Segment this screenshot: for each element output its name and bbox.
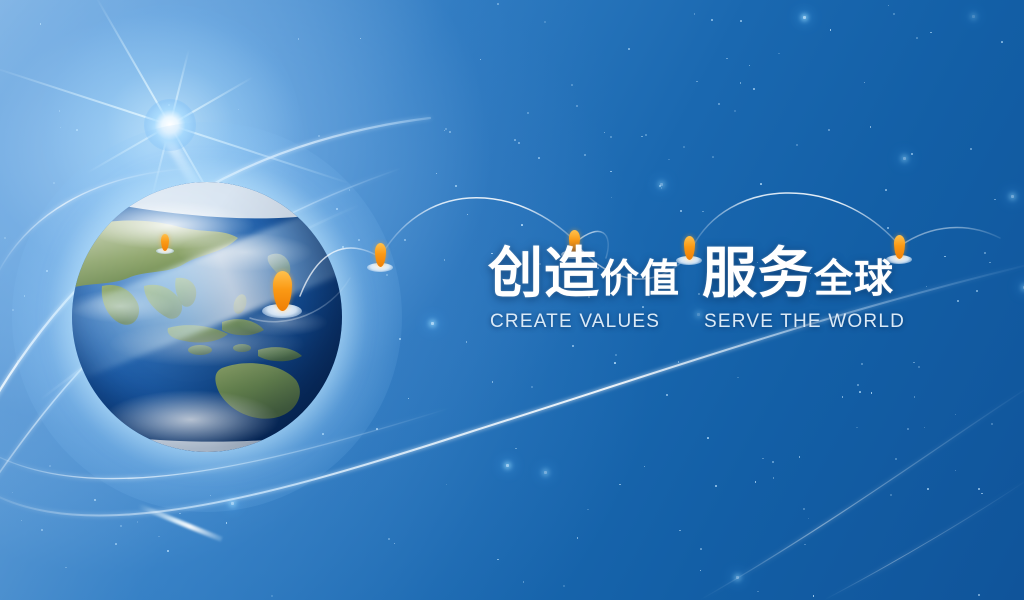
hero-banner: 创造价值服务全球 CREATE VALUES SERVE THE WORLD	[0, 0, 1024, 600]
headline-phrase2-main: 服务	[702, 242, 814, 304]
marker-globe-oceania[interactable]	[262, 264, 302, 318]
headline-phrase1-accent: 价值	[600, 258, 680, 301]
subtitle-serve-the-world: SERVE THE WORLD	[704, 311, 905, 333]
headline-phrase2-accent: 全球	[814, 258, 894, 301]
subtitle-block: CREATE VALUES SERVE THE WORLD	[488, 311, 948, 333]
subtitle-create-values: CREATE VALUES	[490, 311, 660, 333]
headline-block: 创造价值服务全球 CREATE VALUES SERVE THE WORLD	[488, 246, 948, 333]
earth-globe	[72, 182, 342, 452]
headline-line: 创造价值服务全球	[488, 246, 948, 301]
marker-route-1[interactable]	[367, 238, 393, 272]
headline-phrase1-main: 创造	[488, 242, 600, 304]
marker-globe-asia[interactable]	[156, 230, 174, 254]
